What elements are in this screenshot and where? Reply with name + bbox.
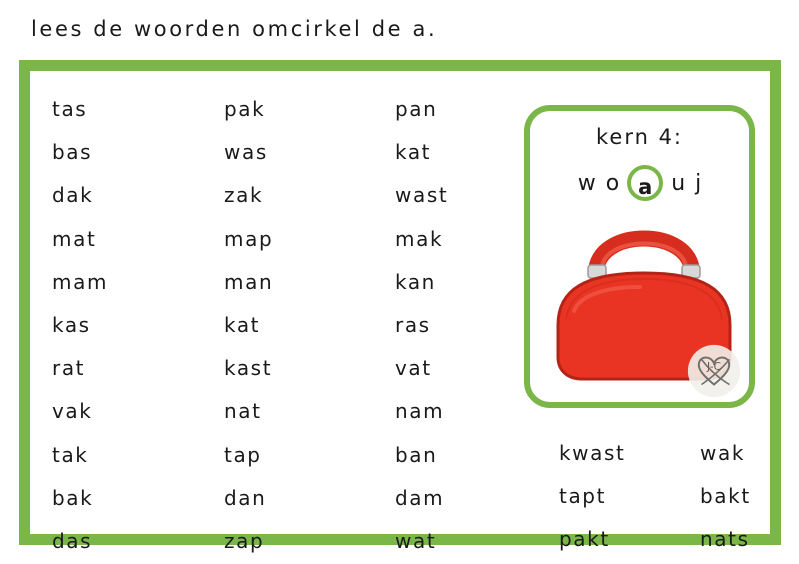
word-item[interactable]: wat [395,520,448,563]
word-item[interactable]: bak [52,477,108,520]
word-item[interactable]: bas [52,131,108,174]
word-column-4: kwasttaptpakt [559,432,625,562]
kern-letter: j [695,171,701,196]
word-item[interactable]: zap [224,520,273,563]
word-item[interactable]: wast [395,174,448,217]
word-item[interactable]: kat [395,131,448,174]
word-item[interactable]: mam [52,261,108,304]
word-item[interactable]: man [224,261,273,304]
word-item[interactable]: bakt [700,475,751,518]
word-column-5: wakbaktnats [700,432,751,562]
kern-letter: w [578,171,596,196]
word-item[interactable]: map [224,218,273,261]
word-item[interactable]: vak [52,390,108,433]
word-item[interactable]: tapt [559,475,625,518]
heart-logo-icon: J-C [685,342,743,400]
word-item[interactable]: nam [395,390,448,433]
word-item[interactable]: pakt [559,518,625,561]
word-item[interactable]: nat [224,390,273,433]
page-title: lees de woorden omcirkel de a. [31,17,437,41]
word-item[interactable]: kast [224,347,273,390]
word-item[interactable]: kas [52,304,108,347]
word-item[interactable]: rat [52,347,108,390]
word-item[interactable]: kat [224,304,273,347]
word-item[interactable]: kwast [559,432,625,475]
word-item[interactable]: mak [395,218,448,261]
word-item[interactable]: tap [224,434,273,477]
word-item[interactable]: dam [395,477,448,520]
word-item[interactable]: dak [52,174,108,217]
word-item[interactable]: pan [395,88,448,131]
svg-text:J-C: J-C [706,360,721,373]
word-item[interactable]: wak [700,432,751,475]
word-item[interactable]: tak [52,434,108,477]
kern-letter-circled: a [627,165,663,201]
word-item[interactable]: nats [700,518,751,561]
word-item[interactable]: zak [224,174,273,217]
word-list-frame: tasbasdakmatmamkasratvaktakbakdaspakwasz… [19,60,781,545]
word-column-1: tasbasdakmatmamkasratvaktakbakdas [52,88,108,563]
kern-letter: o [606,171,619,196]
kern-letter: u [671,171,685,196]
word-item[interactable]: was [224,131,273,174]
kern-title: kern 4: [530,125,749,149]
word-item[interactable]: pak [224,88,273,131]
word-item[interactable]: vat [395,347,448,390]
word-item[interactable]: das [52,520,108,563]
word-column-3: pankatwastmakkanrasvatnambandamwat [395,88,448,563]
word-item[interactable]: kan [395,261,448,304]
word-item[interactable]: ras [395,304,448,347]
word-item[interactable]: ban [395,434,448,477]
word-column-2: pakwaszakmapmankatkastnattapdanzap [224,88,273,563]
kern-letter-row: woauj [530,165,749,201]
word-item[interactable]: dan [224,477,273,520]
word-item[interactable]: tas [52,88,108,131]
word-item[interactable]: mat [52,218,108,261]
kern-card: kern 4: woauj J-C [524,105,755,408]
